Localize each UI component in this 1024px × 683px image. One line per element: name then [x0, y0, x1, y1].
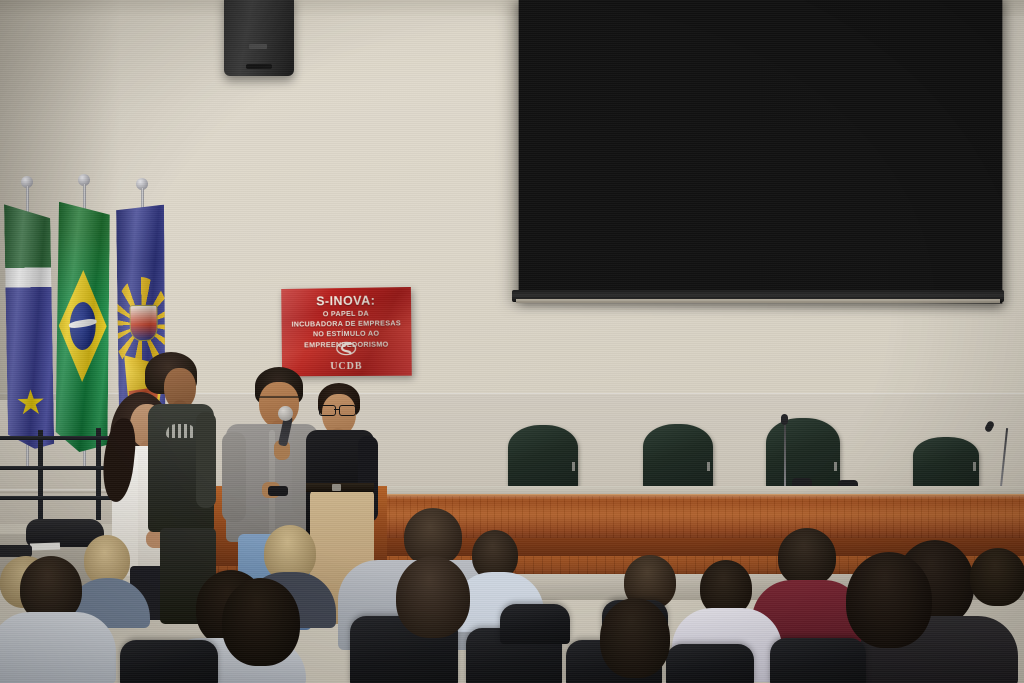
- rail-bar: [0, 496, 122, 500]
- tshirt-print: [166, 424, 196, 438]
- microphone-capsule: [781, 414, 788, 425]
- arm: [196, 412, 216, 508]
- paper-sheet: [30, 542, 60, 550]
- dais-chair: [643, 424, 713, 491]
- chair-label-tag: [973, 462, 976, 471]
- rail-post: [38, 430, 43, 520]
- audience-head: [222, 578, 300, 666]
- chair-label-tag: [834, 462, 837, 471]
- microphone-gooseneck-stem: [784, 420, 786, 490]
- eyeglasses-icon: [319, 405, 359, 414]
- event-banner: S-INOVA: O PAPEL DA INCUBADORA DE EMPRES…: [281, 287, 412, 376]
- loudspeaker-icon: [224, 0, 294, 76]
- flag-stand-group: ★: [0, 172, 130, 462]
- chair-label-tag: [707, 462, 710, 471]
- dais-chair: [508, 425, 578, 491]
- banner-sheen: [281, 287, 412, 376]
- mato-grosso-do-sul-flag: ★: [4, 204, 54, 450]
- chair-label-tag: [572, 462, 575, 471]
- projection-screen: UCDB INTRODUÇÃO Empresa: PLANTEC – Labor…: [519, 0, 1003, 304]
- rail-bar: [0, 436, 122, 440]
- presentation-clicker-icon: [268, 486, 288, 496]
- rail-post: [96, 428, 101, 520]
- microphone-grille: [278, 406, 293, 421]
- audience-chair: [666, 644, 754, 683]
- audience-chair: [120, 640, 218, 683]
- brazil-flag: [55, 202, 110, 453]
- audience-head: [396, 556, 470, 638]
- audience-head: [846, 552, 932, 648]
- speaker-logo-plate: [249, 44, 267, 49]
- eyeglasses-icon: [258, 396, 300, 406]
- auditorium-photo-scene: UCDB INTRODUÇÃO Empresa: PLANTEC – Labor…: [0, 0, 1024, 683]
- belt-buckle: [332, 484, 341, 491]
- audience-head: [600, 598, 670, 678]
- flag-fold-shading: [55, 202, 110, 453]
- flag-fold-shading: [4, 204, 54, 450]
- audience-chair: [770, 638, 866, 683]
- audience-shoulders: [0, 612, 116, 683]
- dais-chair: [913, 437, 979, 491]
- audience-head: [970, 548, 1024, 606]
- audience-head: [778, 528, 836, 586]
- screen-bottom-shadow: [516, 299, 1000, 303]
- arm-left: [222, 432, 246, 522]
- speaker-port: [246, 64, 272, 69]
- audience-chair: [500, 604, 570, 644]
